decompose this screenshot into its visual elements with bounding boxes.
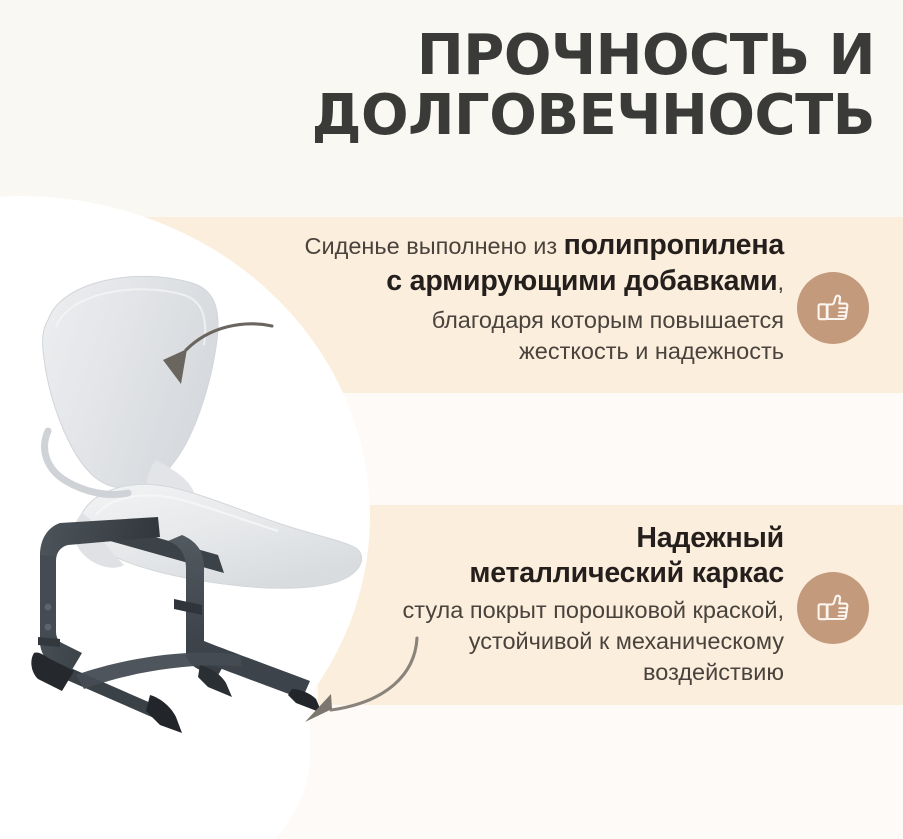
feature-1-line-2: с армирующими добавками, <box>164 264 784 299</box>
feature-2-line-4: устойчивой к механическому <box>264 626 784 657</box>
feature-text-metal-frame: Надежный металлический каркас стула покр… <box>264 521 784 688</box>
feature-2-line-1: Надежный <box>264 521 784 556</box>
feature-text-seat-material: Сиденье выполнено из полипропилена с арм… <box>164 228 784 367</box>
feature-1-line-3: благодаря которым повышается <box>164 305 784 336</box>
feature-2-line-5: воздействию <box>264 657 784 688</box>
feature-1-line-2-comma: , <box>777 269 784 295</box>
feature-1-line-1-bold: полипропилена <box>564 229 784 261</box>
feature-1-line-1: Сиденье выполнено из полипропилена <box>164 228 784 263</box>
height-adjust-screw <box>45 624 52 631</box>
height-adjust-screw <box>45 604 52 611</box>
feature-2-line-3: стула покрыт порошковой краской, <box>264 595 784 626</box>
thumbs-up-icon <box>813 588 853 628</box>
infographic-poster: ПРОЧНОСТЬ И ДОЛГОВЕЧНОСТЬ <box>0 0 903 839</box>
page-title-line-2: ДОЛГОВЕЧНОСТЬ <box>235 86 875 146</box>
feature-1-line-1-regular: Сиденье выполнено из <box>305 233 564 259</box>
feature-2-badge <box>797 572 869 644</box>
feature-1-line-4: жесткость и надежность <box>164 336 784 367</box>
page-title: ПРОЧНОСТЬ И ДОЛГОВЕЧНОСТЬ <box>235 26 875 147</box>
page-title-line-1: ПРОЧНОСТЬ И <box>235 26 875 86</box>
feature-1-badge <box>797 272 869 344</box>
feature-1-line-2-bold: с армирующими добавками <box>386 265 777 297</box>
thumbs-up-icon <box>813 288 853 328</box>
feature-2-line-2: металлический каркас <box>264 556 784 591</box>
